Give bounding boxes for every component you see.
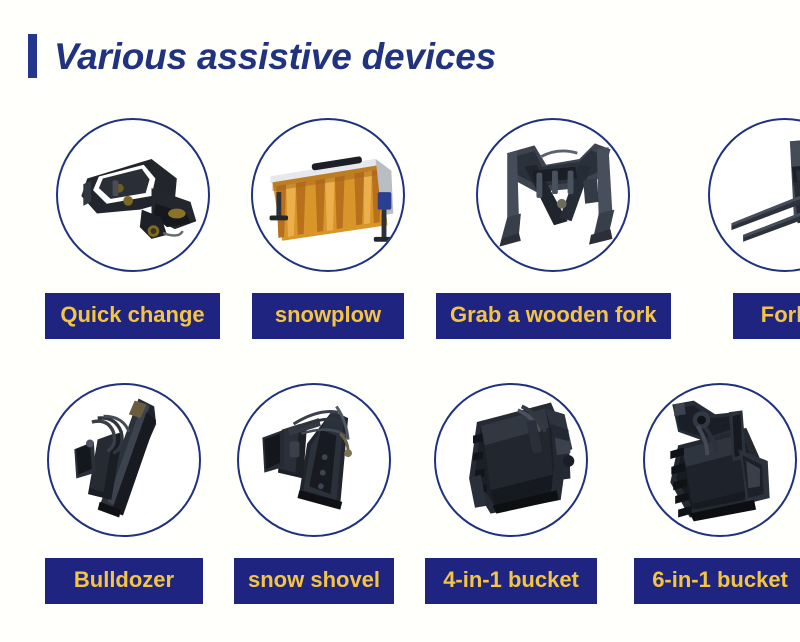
- four-in-one-bucket-photo: [434, 383, 588, 537]
- pallet-fork-photo: [708, 118, 800, 272]
- product-showcase-page: Various assistive devices: [0, 0, 800, 642]
- snow-blade-photo: [237, 383, 391, 537]
- product-label-quick-change: Quick change: [45, 293, 220, 339]
- product-label-6-in-1-bucket: 6-in-1 bucket: [634, 558, 800, 604]
- rotary-broom-photo: [251, 118, 405, 272]
- product-label-snowplow: snowplow: [252, 293, 404, 339]
- product-label-grab-a-wooden-fork: Grab a wooden fork: [436, 293, 671, 339]
- header-accent-bar: [28, 34, 37, 78]
- dozer-blade-photo: [47, 383, 201, 537]
- product-cell-bulldozer[interactable]: Bulldozer: [45, 383, 203, 604]
- quick-change-coupler-photo: [56, 118, 210, 272]
- product-cell-quick-change[interactable]: Quick change: [45, 118, 220, 339]
- log-grapple-photo: [476, 118, 630, 272]
- product-cell-snow-shovel[interactable]: snow shovel: [234, 383, 394, 604]
- product-label-snow-shovel: snow shovel: [234, 558, 394, 604]
- product-label-fork: Fork: [733, 293, 800, 339]
- page-title: Various assistive devices: [54, 38, 496, 75]
- product-label-bulldozer: Bulldozer: [45, 558, 203, 604]
- product-cell-6-in-1-bucket[interactable]: 6-in-1 bucket: [634, 383, 800, 604]
- six-in-one-bucket-photo: [643, 383, 797, 537]
- product-cell-grab-a-wooden-fork[interactable]: Grab a wooden fork: [436, 118, 671, 339]
- product-cell-snowplow[interactable]: snowplow: [251, 118, 405, 339]
- product-cell-fork[interactable]: Fork: [708, 118, 800, 339]
- product-row-1: Quick change: [0, 118, 800, 339]
- product-label-4-in-1-bucket: 4-in-1 bucket: [425, 558, 597, 604]
- product-cell-4-in-1-bucket[interactable]: 4-in-1 bucket: [425, 383, 597, 604]
- page-header: Various assistive devices: [28, 30, 496, 82]
- product-row-2: Bulldozer: [0, 383, 800, 604]
